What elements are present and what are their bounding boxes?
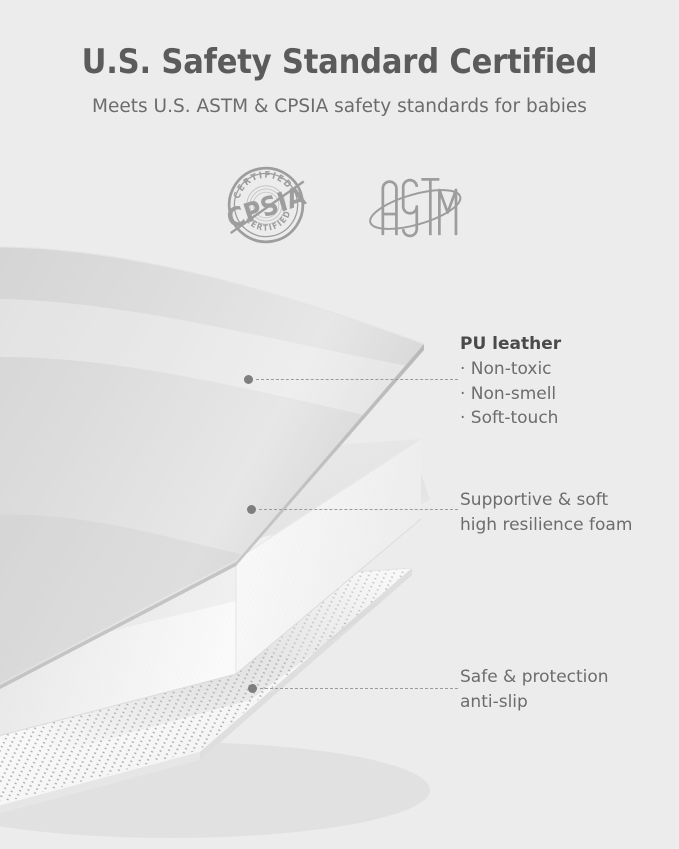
leader-dash-pu-leather xyxy=(256,379,458,380)
callout-anti-slip-line-2: anti-slip xyxy=(460,690,609,715)
page-subtitle: Meets U.S. ASTM & CPSIA safety standards… xyxy=(0,84,679,120)
leader-dot-pu-leather xyxy=(244,375,253,384)
leader-line-pu-leather xyxy=(244,374,458,384)
callout-foam-line-2: high resilience foam xyxy=(460,513,632,538)
leader-line-anti-slip xyxy=(248,683,458,693)
callout-pu-leather-heading: PU leather xyxy=(460,334,561,354)
callout-pu-leather-bullet-3: · Soft-touch xyxy=(460,406,561,431)
leader-dot-foam xyxy=(247,505,256,514)
callout-anti-slip-line-1: Safe & protection xyxy=(460,665,609,690)
leader-line-foam xyxy=(247,504,458,514)
callout-pu-leather-bullet-1: · Non-toxic xyxy=(460,357,561,382)
cpsia-certified-stamp-icon: CERTIFIED CERTIFIED CPSIA xyxy=(209,149,322,262)
callout-anti-slip: Safe & protection anti-slip xyxy=(460,665,609,714)
callout-foam: Supportive & soft high resilience foam xyxy=(460,488,632,537)
header: U.S. Safety Standard Certified Meets U.S… xyxy=(0,0,679,150)
certification-badges: CERTIFIED CERTIFIED CPSIA xyxy=(0,152,679,258)
callout-pu-leather: PU leather · Non-toxic · Non-smell · Sof… xyxy=(460,332,561,431)
leader-dot-anti-slip xyxy=(248,684,257,693)
leader-dash-foam xyxy=(259,509,458,510)
infographic-page: U.S. Safety Standard Certified Meets U.S… xyxy=(0,0,679,849)
astm-logo-icon xyxy=(364,157,462,253)
callout-foam-line-1: Supportive & soft xyxy=(460,488,632,513)
callout-pu-leather-bullet-2: · Non-smell xyxy=(460,382,561,407)
page-title: U.S. Safety Standard Certified xyxy=(0,0,679,84)
leader-dash-anti-slip xyxy=(260,688,458,689)
